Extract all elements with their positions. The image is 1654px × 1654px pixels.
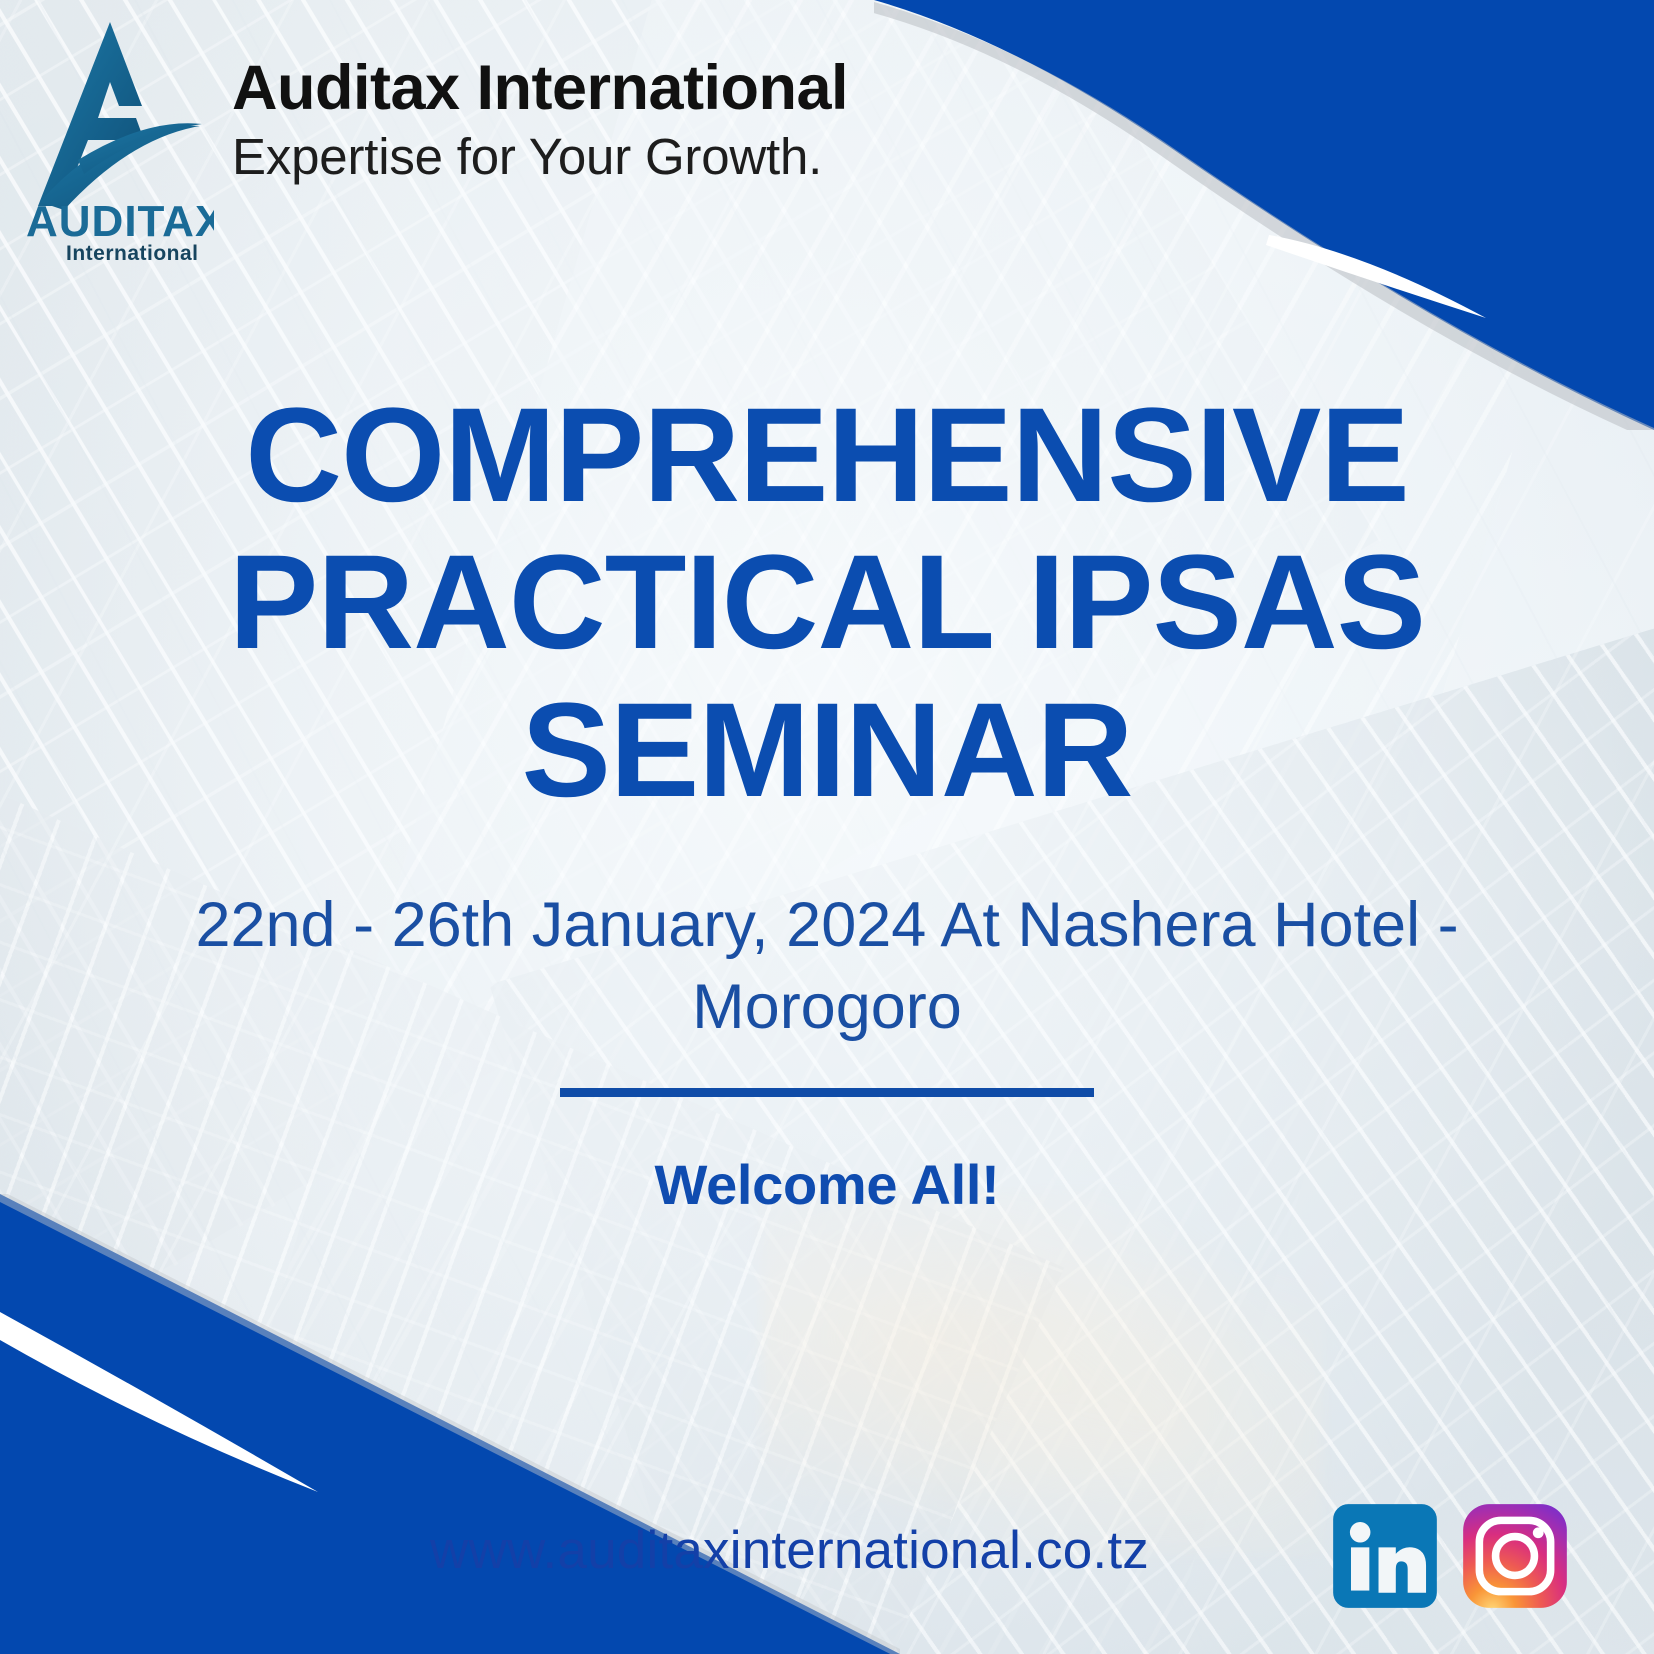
logo-subword: International [66,242,199,264]
sun-glint [761,1191,1323,1555]
auditax-logo: AUDITAX International [18,14,214,264]
bottom-left-blue-corner-shape [0,1194,900,1654]
event-title: COMPREHENSIVE PRACTICAL IPSAS SEMINAR [0,382,1654,824]
section-divider [560,1088,1094,1097]
linkedin-icon[interactable] [1331,1502,1439,1610]
social-links [1331,1502,1569,1610]
website-url[interactable]: www.auditaxinternational.co.tz [430,1520,1149,1581]
instagram-icon[interactable] [1461,1502,1569,1610]
poster-canvas: AUDITAX International Auditax Internatio… [0,0,1654,1654]
event-details: 22nd - 26th January, 2024 At Nashera Hot… [0,885,1654,1049]
auditax-a-swoosh-logo-icon: AUDITAX International [18,14,214,264]
welcome-text: Welcome All! [0,1152,1654,1217]
title-line-2: PRACTICAL IPSAS [48,529,1606,676]
brand-header: AUDITAX International Auditax Internatio… [18,14,848,264]
brand-text-block: Auditax International Expertise for Your… [232,14,848,185]
logo-wordmark: AUDITAX [26,197,214,246]
title-line-3: SEMINAR [48,677,1606,824]
top-right-blue-corner-shape [874,0,1654,430]
title-line-1: COMPREHENSIVE [48,382,1606,529]
divider-container [0,1088,1654,1097]
brand-tagline: Expertise for Your Growth. [232,128,848,185]
brand-name: Auditax International [232,56,848,122]
